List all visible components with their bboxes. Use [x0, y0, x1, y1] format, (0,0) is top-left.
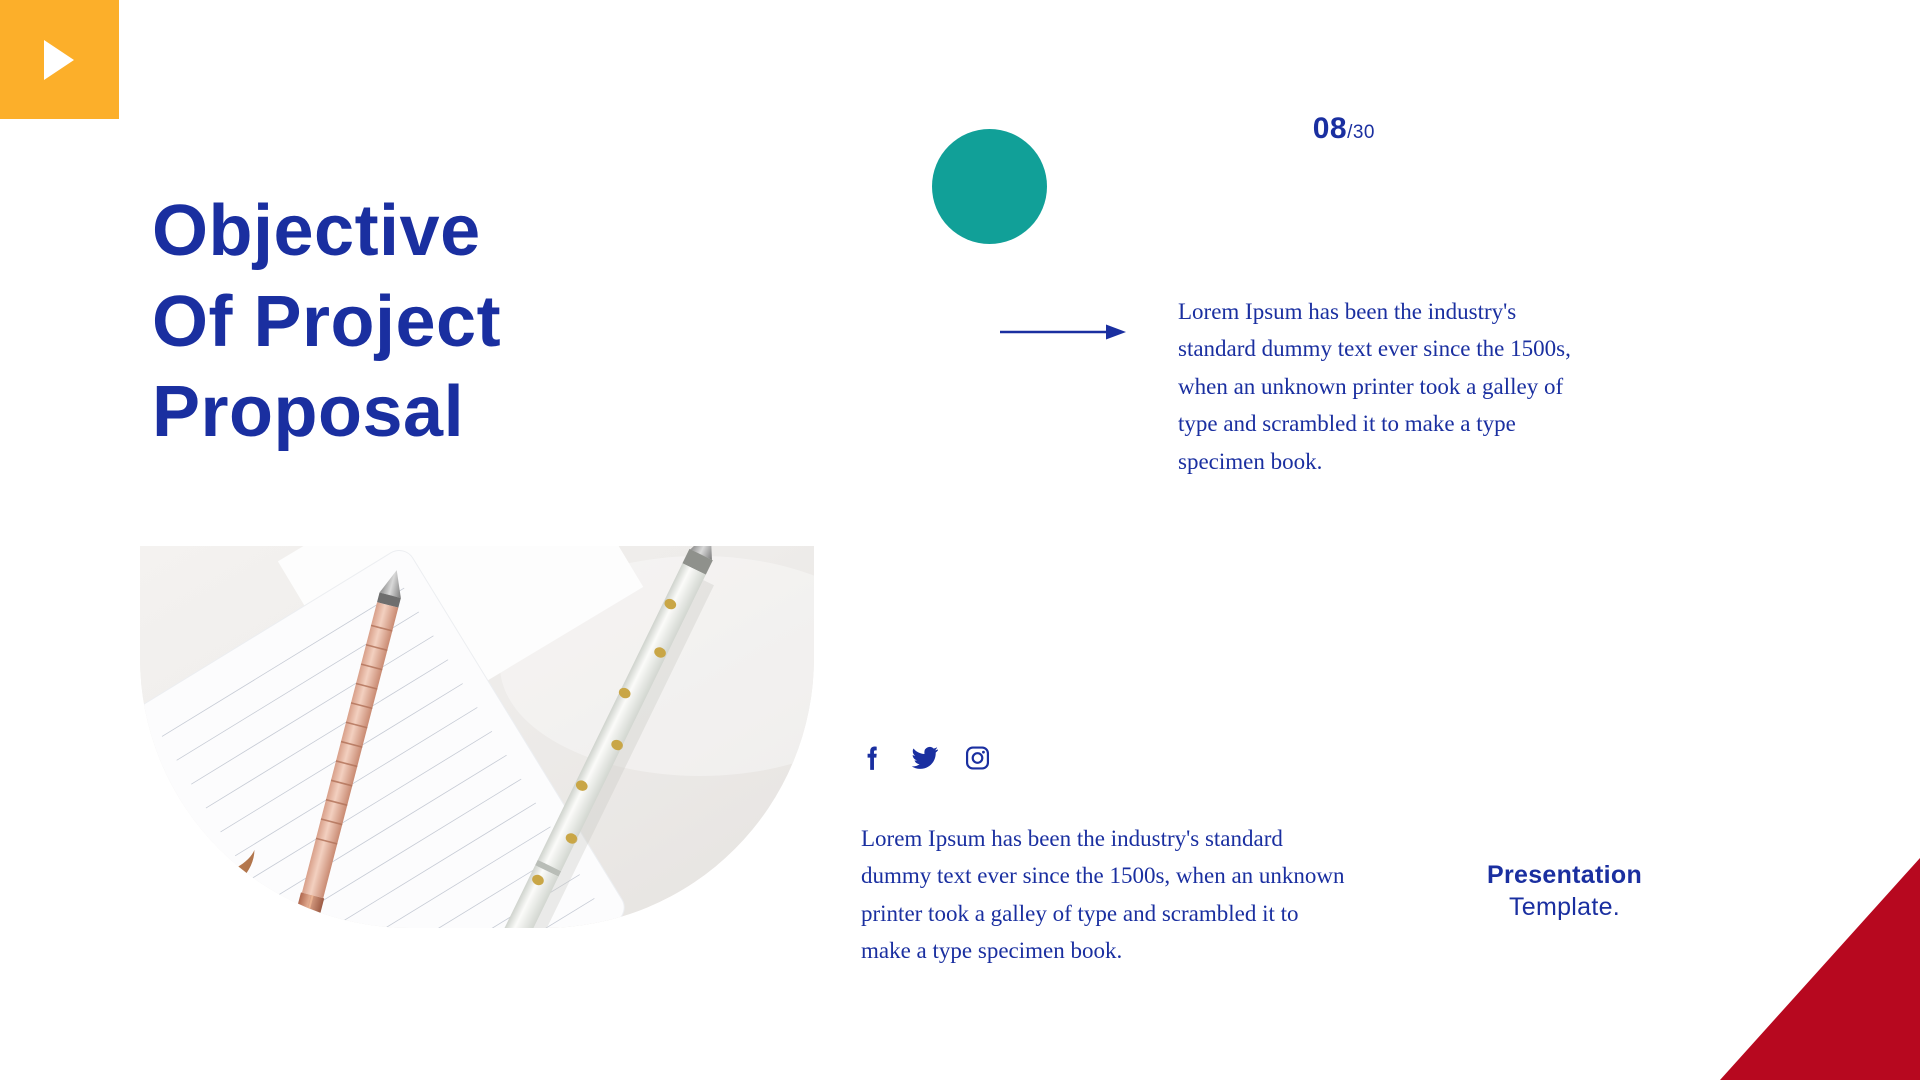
right-arrow-icon	[1000, 320, 1126, 344]
lockup-line-2: Template.	[1467, 891, 1662, 923]
instagram-icon[interactable]	[965, 745, 990, 771]
facebook-icon[interactable]	[862, 745, 884, 771]
play-triangle-icon	[44, 40, 74, 80]
red-corner-decoration	[1720, 858, 1920, 1080]
page-counter-current: 08	[1313, 112, 1347, 145]
play-badge[interactable]	[0, 0, 119, 119]
page-title: Objective Of Project Proposal	[152, 186, 501, 458]
social-links	[862, 745, 990, 771]
presentation-template-lockup: Presentation Template.	[1467, 859, 1662, 923]
twitter-icon[interactable]	[911, 745, 938, 771]
bottom-body-paragraph: Lorem Ipsum has been the industry's stan…	[861, 820, 1353, 970]
presentation-slide: 08/30 Objective Of Project Proposal Lore…	[0, 0, 1920, 1080]
teal-circle-decoration	[932, 129, 1047, 244]
notebook-and-pens-photo	[140, 546, 814, 928]
lockup-line-1: Presentation	[1467, 859, 1662, 891]
right-body-paragraph: Lorem Ipsum has been the industry's stan…	[1178, 293, 1598, 480]
page-counter: 08/30	[1313, 112, 1375, 146]
page-counter-total: /30	[1347, 122, 1375, 143]
